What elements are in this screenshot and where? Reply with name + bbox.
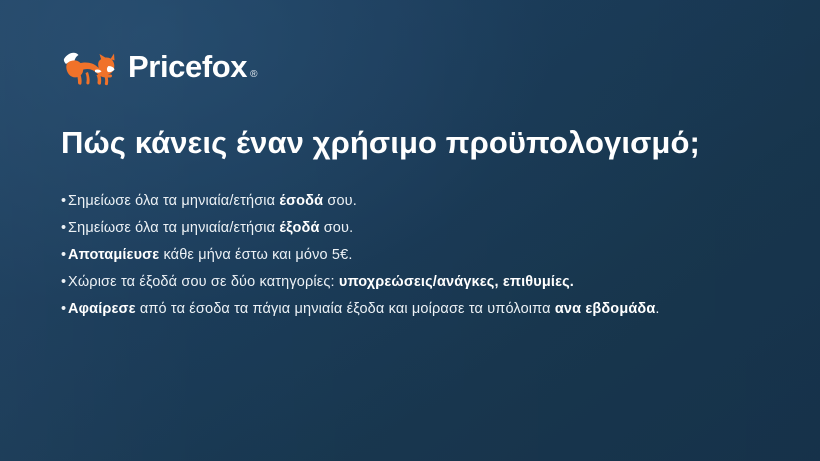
list-item: •Χώρισε τα έξοδά σου σε δύο κατηγορίες: … [61,269,660,296]
list-item: •Αφαίρεσε από τα έσοδα τα πάγια μηνιαία … [61,296,660,323]
registered-trademark-icon: ® [250,70,257,80]
list-item-text: Αποταμίευσε κάθε μήνα έστω και μόνο 5€. [68,247,353,263]
bullet-marker: • [61,242,68,269]
bullet-marker: • [61,269,68,296]
list-item: •Αποταμίευσε κάθε μήνα έστω και μόνο 5€. [61,242,660,269]
plain-text: από τα έσοδα τα πάγια μηνιαία έξοδα και … [136,301,555,317]
brand-logo[interactable]: Pricefox ® [62,44,257,88]
plain-text: Σημείωσε όλα τα μηνιαία/ετήσια [68,193,279,209]
bullet-marker: • [61,296,68,323]
list-item-text: Χώρισε τα έξοδά σου σε δύο κατηγορίες: υ… [68,274,574,290]
fox-logo-icon [62,44,116,88]
list-item: •Σημείωσε όλα τα μηνιαία/ετήσια έσοδά σο… [61,188,660,215]
list-item-text: Σημείωσε όλα τα μηνιαία/ετήσια έσοδά σου… [68,193,357,209]
bullet-marker: • [61,215,68,242]
emphasis-text: Αποταμίευσε [68,247,159,263]
bullet-marker: • [61,188,68,215]
plain-text: Σημείωσε όλα τα μηνιαία/ετήσια [68,220,279,236]
plain-text: Χώρισε τα έξοδά σου σε δύο κατηγορίες: [68,274,339,290]
list-item-text: Σημείωσε όλα τα μηνιαία/ετήσια έξοδά σου… [68,220,353,236]
plain-text: σου. [323,193,357,209]
emphasis-text: έξοδά [279,220,319,236]
emphasis-text: Αφαίρεσε [68,301,136,317]
plain-text: κάθε μήνα έστω και μόνο 5€. [159,247,352,263]
list-item-text: Αφαίρεσε από τα έσοδα τα πάγια μηνιαία έ… [68,301,660,317]
brand-name: Pricefox [128,51,247,82]
list-item: •Σημείωσε όλα τα μηνιαία/ετήσια έξοδά σο… [61,215,660,242]
brand-wordmark: Pricefox ® [128,51,257,82]
bullet-list: •Σημείωσε όλα τα μηνιαία/ετήσια έσοδά σο… [61,188,660,323]
page-title: Πώς κάνεις έναν χρήσιμο προϋπολογισμό; [61,125,700,162]
emphasis-text: έσοδά [279,193,323,209]
emphasis-text: υποχρεώσεις/ανάγκες, επιθυμίες. [339,274,574,290]
emphasis-text: ανα εβδομάδα [555,301,656,317]
plain-text: . [655,301,659,317]
plain-text: σου. [320,220,354,236]
slide-canvas: Pricefox ® Πώς κάνεις έναν χρήσιμο προϋπ… [0,0,820,461]
